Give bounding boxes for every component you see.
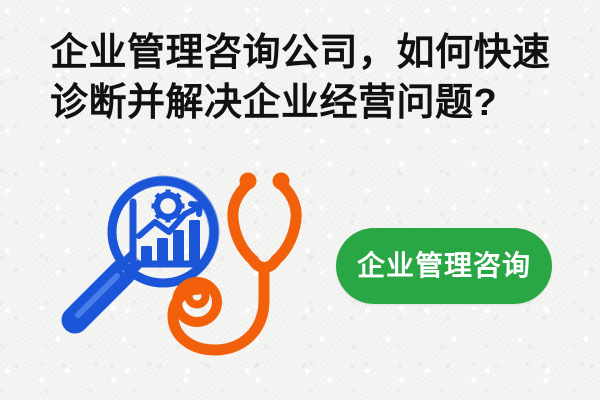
illustration-group: [45, 160, 335, 360]
stethoscope-earpiece-left: [240, 173, 257, 190]
bar-chart-icon: [133, 202, 200, 264]
stethoscope-left-tube: [233, 184, 253, 260]
cta-button-label: 企业管理咨询: [357, 252, 531, 280]
bar-3: [173, 230, 184, 261]
illustration-svg: [45, 160, 335, 360]
poster-canvas: 企业管理咨询公司，如何快速 诊断并解决企业经营问题?: [0, 0, 600, 400]
stethoscope-earpiece-right: [273, 173, 290, 190]
bar-2: [157, 238, 168, 261]
headline-line-2: 诊断并解决企业经营问题?: [50, 78, 570, 128]
bar-1: [141, 246, 152, 261]
magnifying-glass-bar-chart-icon: [75, 178, 218, 321]
page-title: 企业管理咨询公司，如何快速 诊断并解决企业经营问题?: [50, 28, 570, 128]
headline-line-1: 企业管理咨询公司，如何快速: [50, 28, 570, 78]
stethoscope-right-tube: [276, 184, 296, 260]
bar-4: [189, 220, 200, 261]
cta-button[interactable]: 企业管理咨询: [336, 228, 552, 304]
stethoscope-chest-piece-inner: [189, 288, 206, 305]
magnifier-handle: [75, 272, 123, 320]
gear-icon: [152, 190, 185, 223]
